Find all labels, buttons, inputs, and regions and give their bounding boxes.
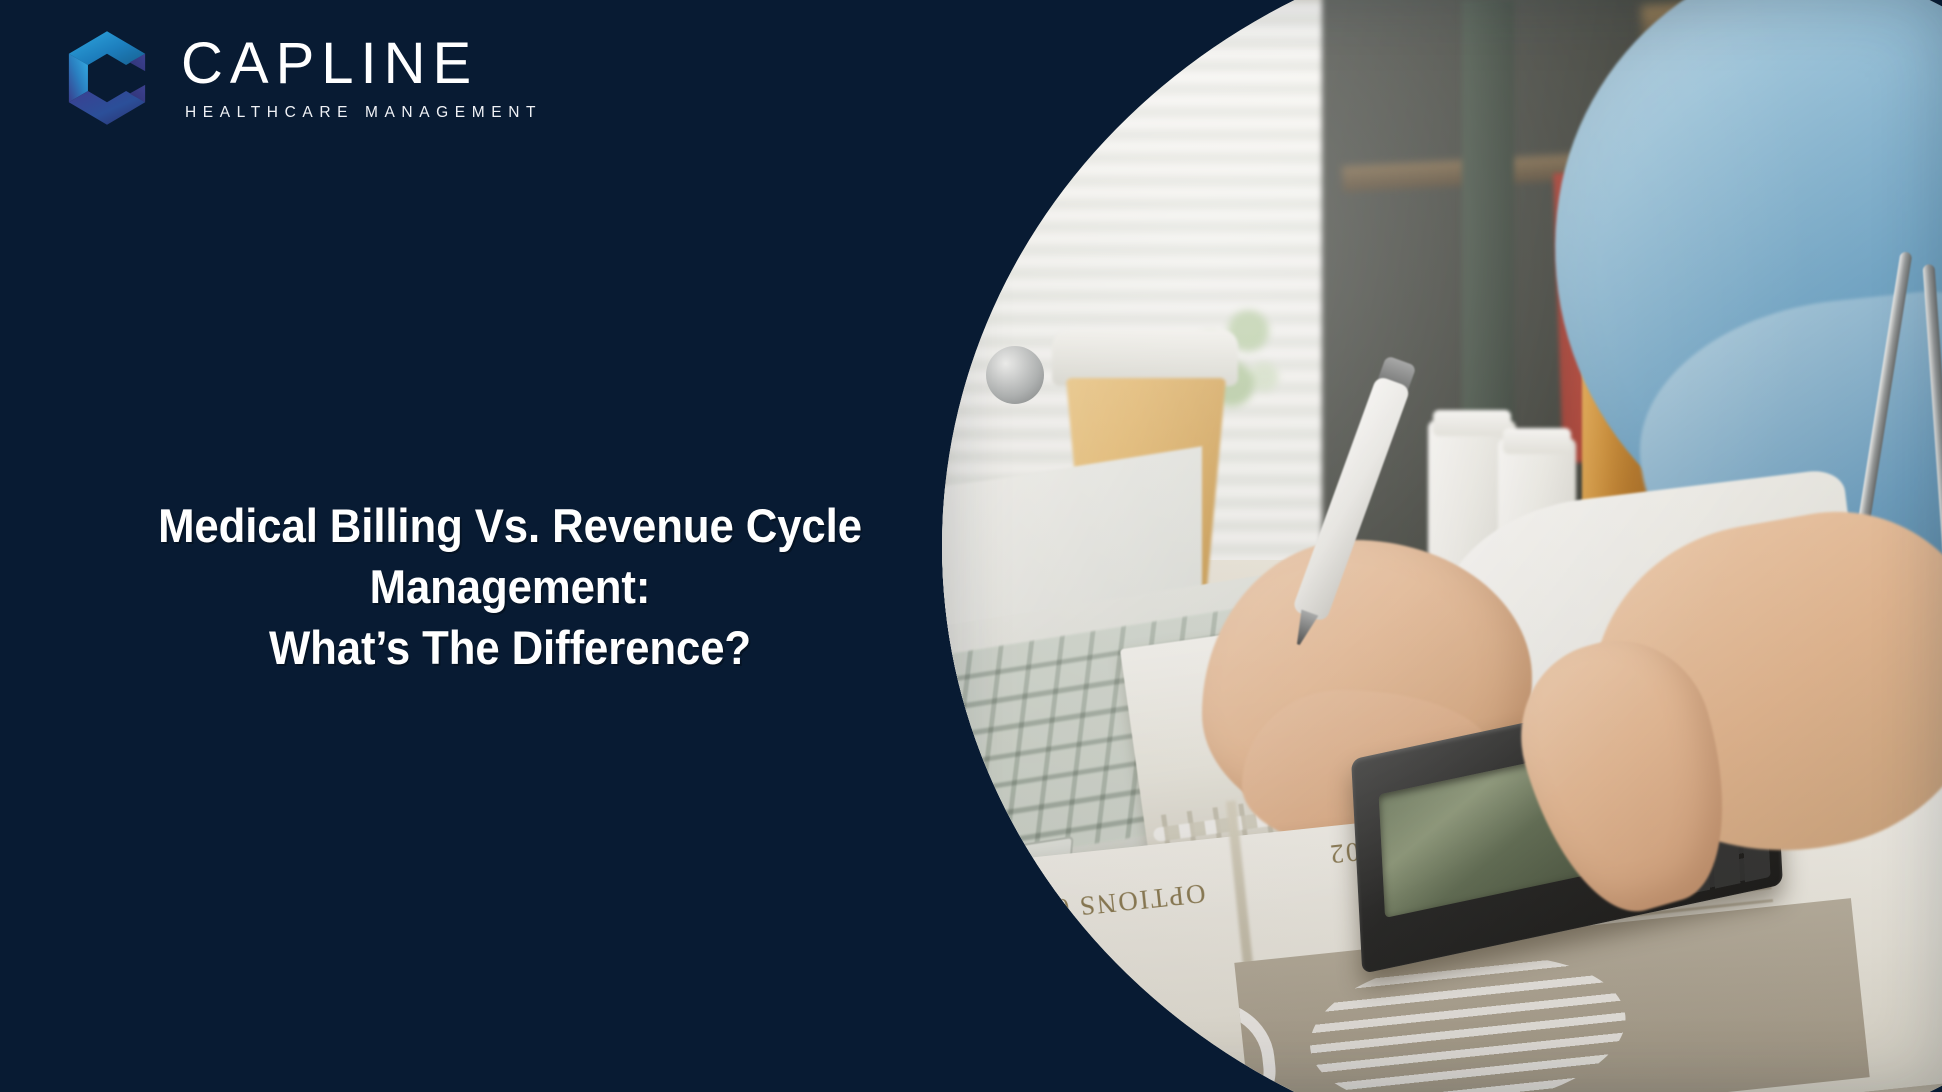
page-title-line-2: What’s The Difference? — [36, 617, 985, 678]
capline-c-monogram-icon — [55, 26, 159, 130]
hero-photo: OPTIONS 01 OPTIONS 02 — [942, 0, 1942, 1092]
photo-scene: OPTIONS 01 OPTIONS 02 — [942, 0, 1942, 1092]
brand-logo[interactable]: CAPLINE HEALTHCARE MANAGEMENT — [55, 26, 542, 130]
blog-banner: OPTIONS 01 OPTIONS 02 — [0, 0, 1942, 1092]
xray-ribcage-outline — [1296, 940, 1640, 1092]
stethoscope-bell — [986, 346, 1044, 404]
page-title-line-1: Medical Billing Vs. Revenue Cycle Manage… — [158, 499, 862, 613]
brand-name: CAPLINE — [181, 35, 542, 93]
coffee-cup-lid — [1052, 330, 1238, 386]
bottle-highlight — [968, 104, 994, 274]
brand-tagline: HEALTHCARE MANAGEMENT — [185, 104, 542, 122]
brand-logo-text: CAPLINE HEALTHCARE MANAGEMENT — [181, 35, 542, 122]
page-title: Medical Billing Vs. Revenue Cycle Manage… — [36, 495, 985, 678]
